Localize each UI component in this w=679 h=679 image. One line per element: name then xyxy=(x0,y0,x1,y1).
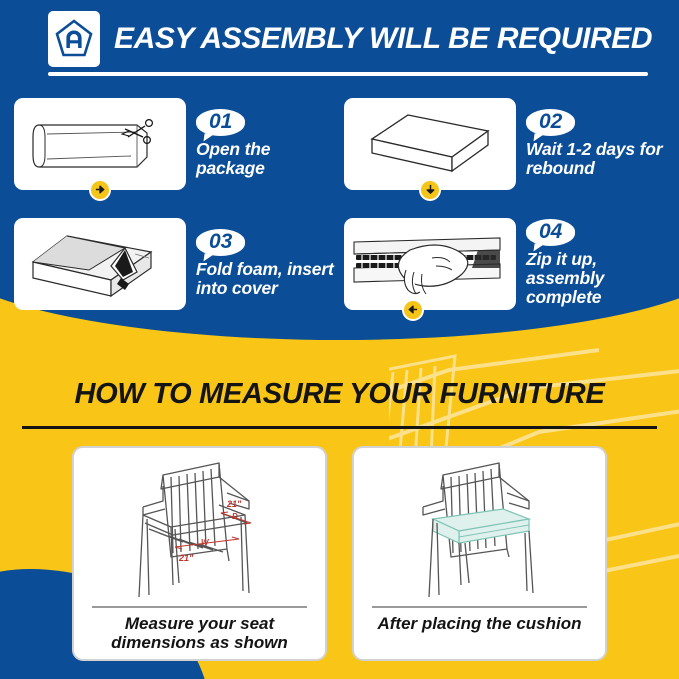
step-02-illustration-card xyxy=(344,98,516,190)
measure-section: HOW TO MEASURE YOUR FURNITURE xyxy=(0,330,679,679)
assembly-section: EASY ASSEMBLY WILL BE REQUIRED xyxy=(0,0,679,340)
step-03-label: Fold foam, insert into cover xyxy=(196,260,336,299)
step-03-illustration-card xyxy=(14,218,186,310)
foam-cushion-block-icon xyxy=(360,105,500,183)
page-title: EASY ASSEMBLY WILL BE REQUIRED xyxy=(114,22,652,56)
measure-panel-cushion: After placing the cushion xyxy=(352,446,607,661)
svg-text:21": 21" xyxy=(226,499,242,509)
svg-text:21": 21" xyxy=(178,553,194,563)
step-04-label: Zip it up, assembly complete xyxy=(526,250,666,308)
panel-2-caption: After placing the cushion xyxy=(364,614,595,633)
panel-1-divider xyxy=(92,606,307,608)
measure-panel-dimensions: 21" D W 21" Measure your seat dimensions… xyxy=(72,446,327,661)
header-divider xyxy=(48,72,648,76)
step-02-label: Wait 1-2 days for rebound xyxy=(526,140,666,179)
step-03-number: 03 xyxy=(196,229,245,256)
house-pentagon-logo-icon xyxy=(48,11,100,67)
package-with-scissors-icon xyxy=(25,107,175,181)
step-item-03: 03 Fold foam, insert into cover xyxy=(14,206,336,321)
chair-with-dimensions-icon: 21" D W 21" xyxy=(115,453,285,601)
step-01-illustration-card xyxy=(14,98,186,190)
svg-text:D: D xyxy=(232,512,238,521)
infographic-poster: EASY ASSEMBLY WILL BE REQUIRED xyxy=(0,0,679,679)
measure-panels: 21" D W 21" Measure your seat dimensions… xyxy=(0,446,679,661)
chair-with-cushion-icon xyxy=(395,453,565,601)
step-item-04: 04 Zip it up, assembly complete xyxy=(344,206,666,321)
panel-1-caption: Measure your seat dimensions as shown xyxy=(84,614,315,653)
panel-2-divider xyxy=(372,606,587,608)
measure-title-divider xyxy=(22,426,657,429)
fold-foam-into-cover-icon xyxy=(25,224,175,304)
step-item-02: 02 Wait 1-2 days for rebound xyxy=(344,86,666,201)
hand-zipping-cover-icon xyxy=(350,224,510,304)
measure-section-title: HOW TO MEASURE YOUR FURNITURE xyxy=(0,378,679,411)
step-01-label: Open the package xyxy=(196,140,336,179)
step-02-arrow-down-icon xyxy=(419,179,441,201)
step-01-arrow-right-icon xyxy=(89,179,111,201)
step-04-illustration-card xyxy=(344,218,516,310)
step-02-number: 02 xyxy=(526,109,575,136)
step-01-number: 01 xyxy=(196,109,245,136)
step-item-01: 01 Open the package xyxy=(14,86,336,201)
header: EASY ASSEMBLY WILL BE REQUIRED xyxy=(48,8,649,70)
assembly-steps-grid: 01 Open the package xyxy=(14,86,666,321)
step-04-number: 04 xyxy=(526,219,575,246)
step-04-arrow-left-icon xyxy=(402,299,424,321)
